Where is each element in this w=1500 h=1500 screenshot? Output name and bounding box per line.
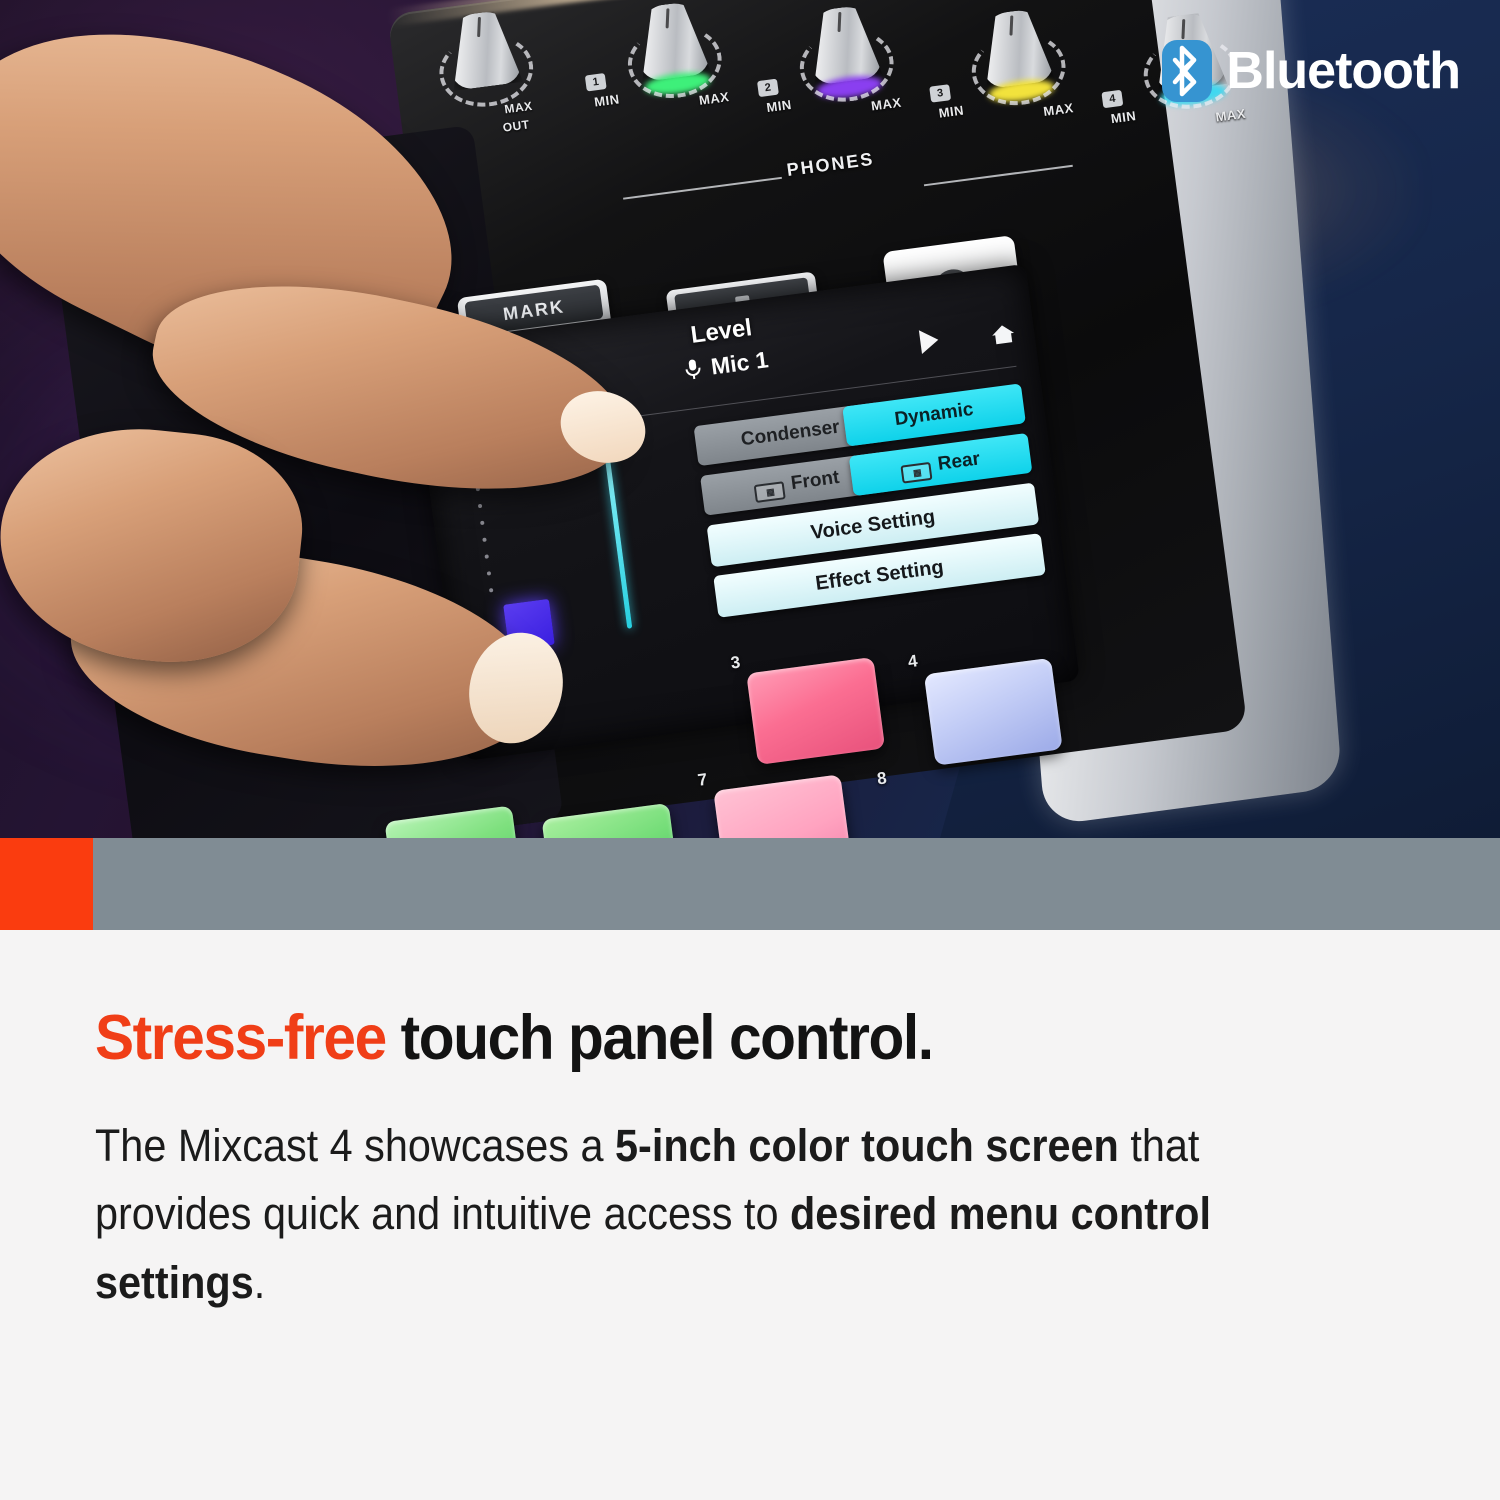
- knob-number: 1: [585, 73, 607, 91]
- sample-pad-4[interactable]: [924, 658, 1063, 766]
- product-photo: MAX OUT 1 MIN MAX 2 MIN MA: [0, 0, 1500, 838]
- divider-bar: [0, 838, 1500, 930]
- headline: Stress-free touch panel control.: [95, 1002, 933, 1074]
- arrow-right-icon[interactable]: [919, 328, 940, 354]
- body-bold-1: 5-inch color touch screen: [615, 1120, 1119, 1171]
- meter-scale-dots: [476, 487, 495, 606]
- level-slider[interactable]: [604, 450, 632, 629]
- mic-front-icon: ▦: [754, 481, 786, 503]
- fader-scale-number: 10: [226, 226, 242, 243]
- meter-indicator-block: [503, 599, 555, 651]
- level-value: 33: [454, 409, 492, 447]
- headline-accent: Stress-free: [95, 1003, 386, 1073]
- knob-3[interactable]: 3 MIN MAX: [968, 6, 1064, 102]
- mic-position-rear-label: Rear: [937, 448, 982, 474]
- knob-1[interactable]: 1 MIN MAX: [625, 0, 721, 95]
- text-section: Stress-free touch panel control. The Mix…: [0, 930, 1500, 1500]
- headline-rest: touch panel control.: [386, 1003, 933, 1073]
- body-paragraph: The Mixcast 4 showcases a 5-inch color t…: [95, 1112, 1282, 1317]
- body-part-1: The Mixcast 4 showcases a: [95, 1120, 615, 1171]
- device-chassis: MAX OUT 1 MIN MAX 2 MIN MA: [60, 0, 1447, 838]
- home-icon[interactable]: [989, 322, 1018, 347]
- bluetooth-badge: Bluetooth: [1162, 38, 1460, 104]
- divider-accent-block: [0, 838, 93, 930]
- divider-gray-block: [93, 838, 1500, 930]
- bluetooth-label: Bluetooth: [1226, 41, 1460, 101]
- screen-controls: Condenser Dynamic ▦Front ▦Rear Voice Set…: [694, 383, 1048, 626]
- mic-position-front-label: Front: [790, 467, 841, 494]
- knob-2[interactable]: 2 MIN MAX: [796, 2, 892, 98]
- meter-peak-tick: [522, 465, 541, 476]
- sample-pad-3[interactable]: [746, 657, 885, 765]
- knob-number: 3: [929, 84, 951, 102]
- level-meter[interactable]: [454, 430, 717, 728]
- knob-out[interactable]: MAX OUT: [436, 7, 532, 103]
- mic-rear-icon: ▦: [901, 462, 933, 484]
- microphone-icon: [682, 357, 705, 387]
- bluetooth-icon: [1162, 40, 1212, 102]
- body-part-3: .: [254, 1257, 266, 1308]
- knob-number: 4: [1101, 90, 1123, 108]
- channel-name: Mic 1: [709, 346, 769, 379]
- knob-number: 2: [757, 79, 779, 97]
